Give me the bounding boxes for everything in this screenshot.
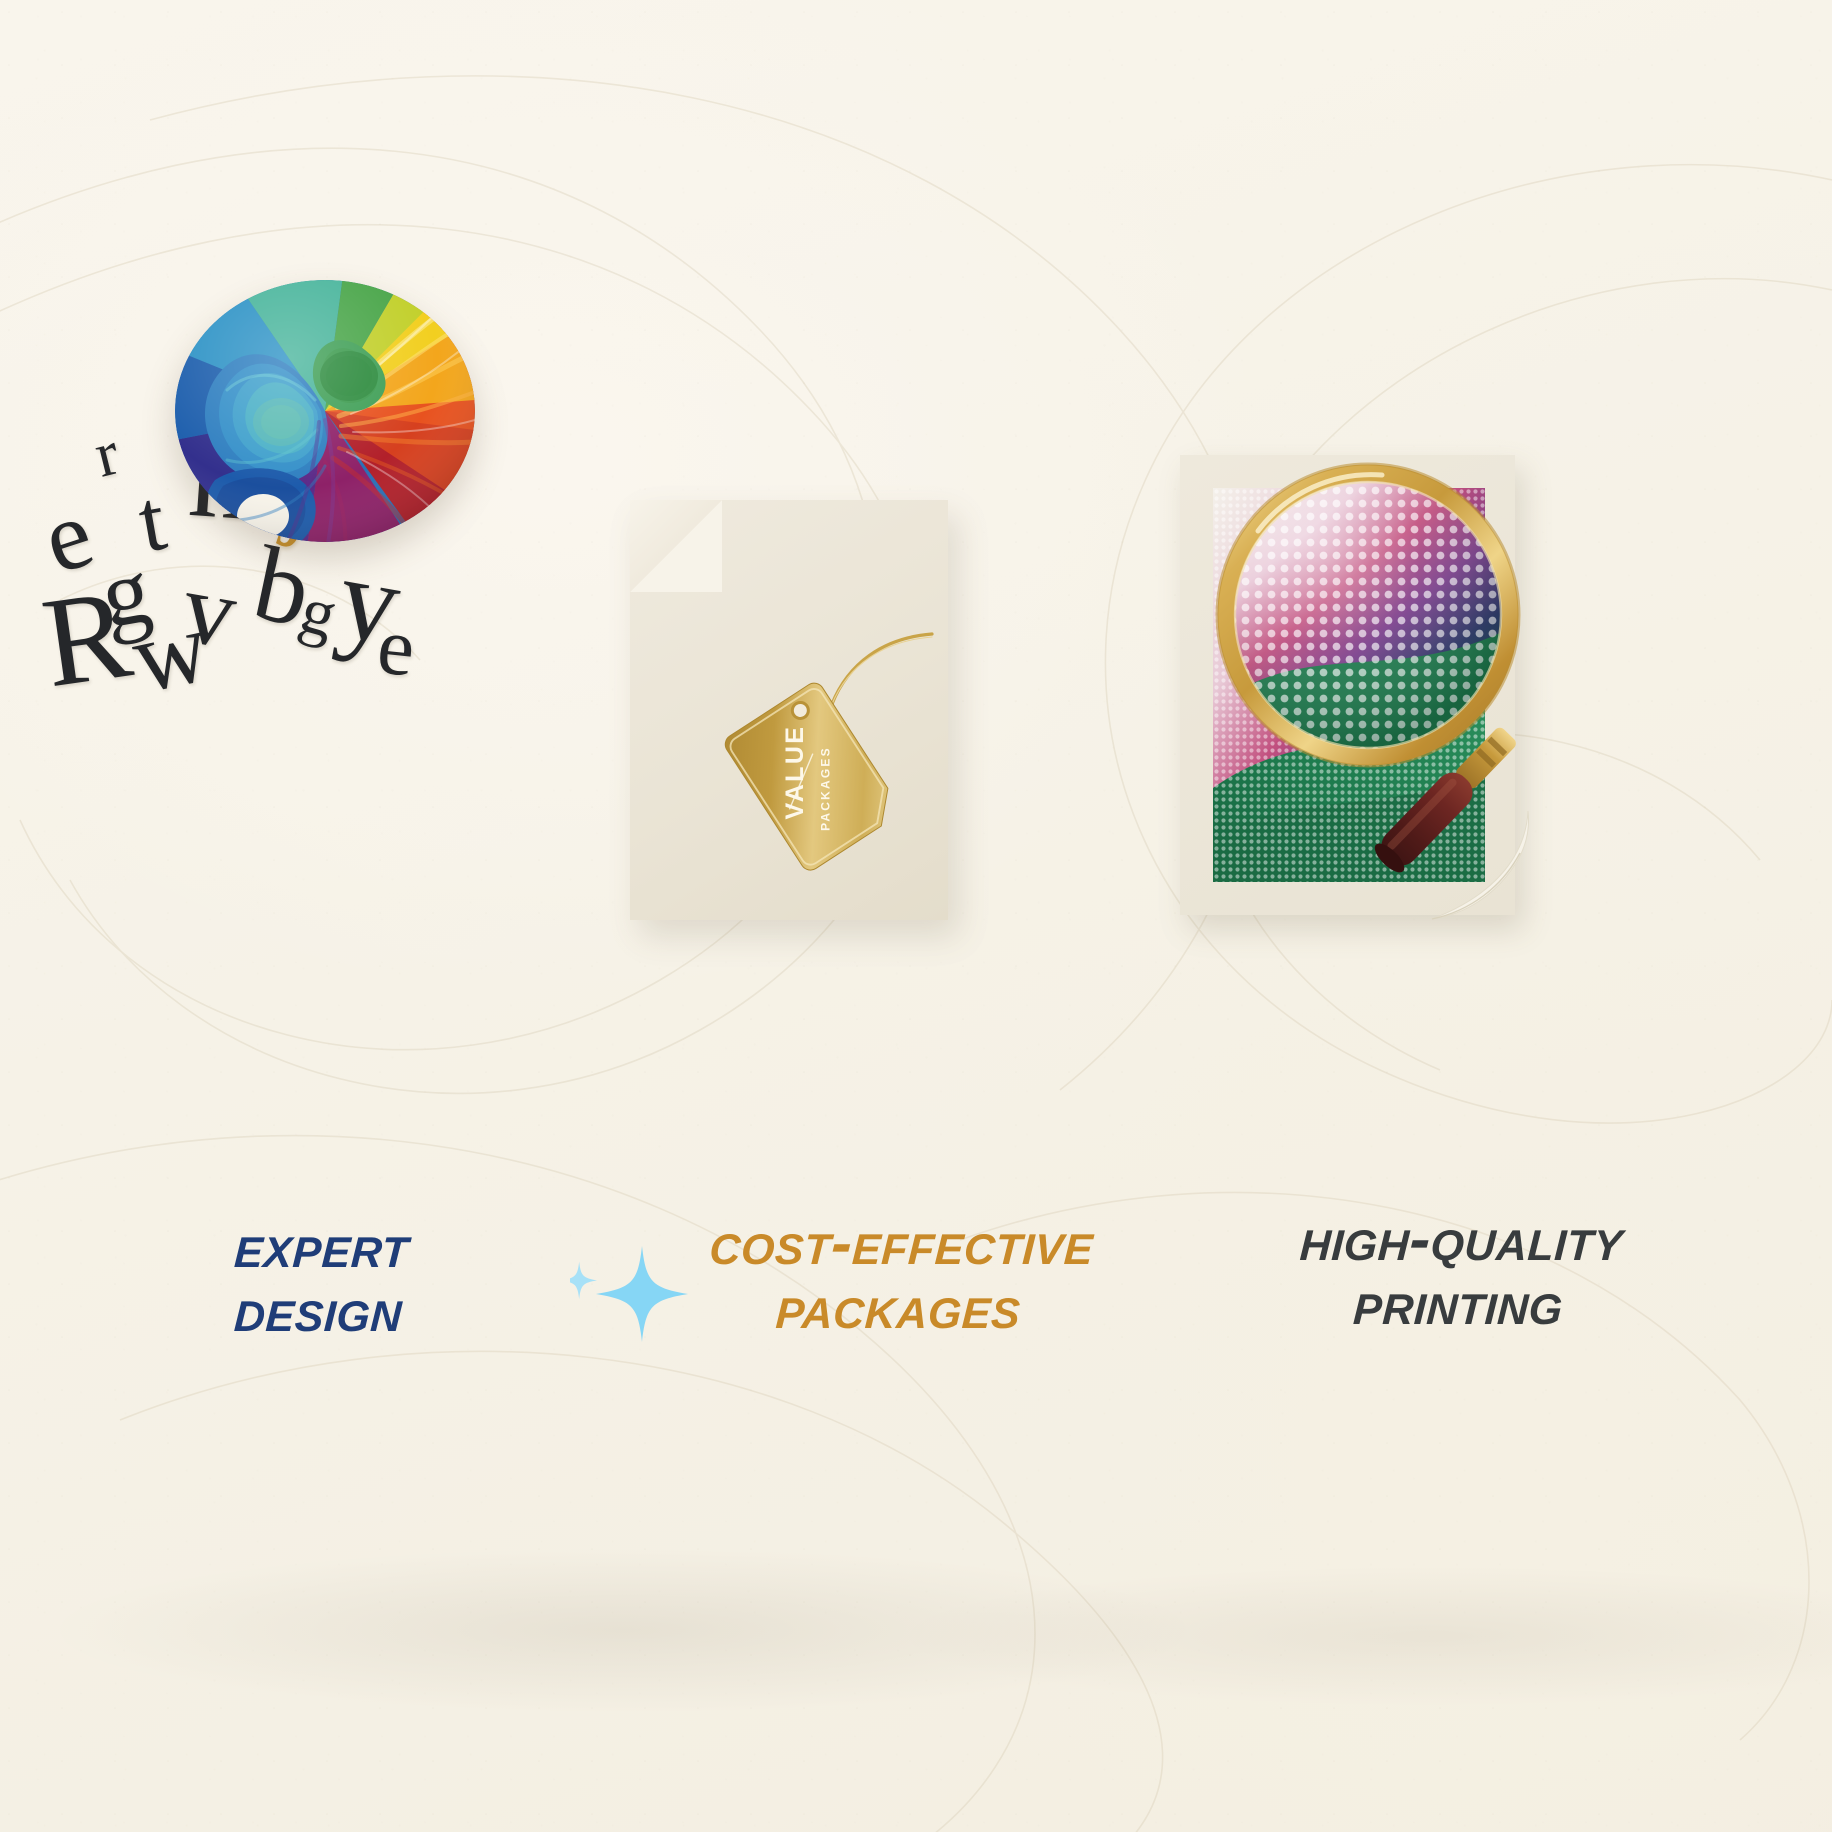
caption-expert-design: Expert Design bbox=[37, 1215, 604, 1343]
scattered-letter: v bbox=[176, 556, 244, 665]
paper-sheet: VALUE PACKAGES bbox=[630, 500, 948, 920]
poster-canvas: r k e t h k j a g R w v b g y e bbox=[0, 0, 1832, 1832]
feature-column-expert-design[interactable]: r k e t h k j a g R w v b g y e bbox=[40, 0, 600, 1832]
scattered-letter: r bbox=[89, 420, 125, 487]
feature-column-cost-effective-packages[interactable]: VALUE PACKAGES Cost-Effective Packages bbox=[620, 0, 1180, 1832]
scattered-letter: e bbox=[374, 604, 419, 689]
caption-line-1: Cost-Effective bbox=[620, 1212, 1183, 1276]
tag-secondary-text: PACKAGES bbox=[819, 746, 833, 831]
caption-high-quality-printing: High-Quality Printing bbox=[1177, 1208, 1744, 1336]
cost-effective-artwork: VALUE PACKAGES bbox=[620, 0, 1180, 1150]
caption-line-2: Packages bbox=[617, 1276, 1180, 1340]
high-quality-printing-artwork bbox=[1180, 0, 1740, 1150]
scattered-letter: R bbox=[36, 569, 138, 708]
caption-cost-effective-packages: Cost-Effective Packages bbox=[617, 1212, 1184, 1340]
tag-string bbox=[826, 630, 946, 730]
caption-line-1: Expert bbox=[40, 1215, 603, 1279]
caption-line-1: High-Quality bbox=[1180, 1208, 1743, 1272]
caption-line-2: Printing bbox=[1177, 1272, 1740, 1336]
feature-column-high-quality-printing[interactable]: High-Quality Printing bbox=[1180, 0, 1740, 1832]
caption-line-2: Design bbox=[37, 1279, 600, 1343]
rainbow-paper-cut-palette bbox=[175, 280, 475, 542]
poster-curled-corner bbox=[1430, 807, 1550, 927]
expert-design-artwork: r k e t h k j a g R w v b g y e bbox=[40, 0, 600, 1150]
